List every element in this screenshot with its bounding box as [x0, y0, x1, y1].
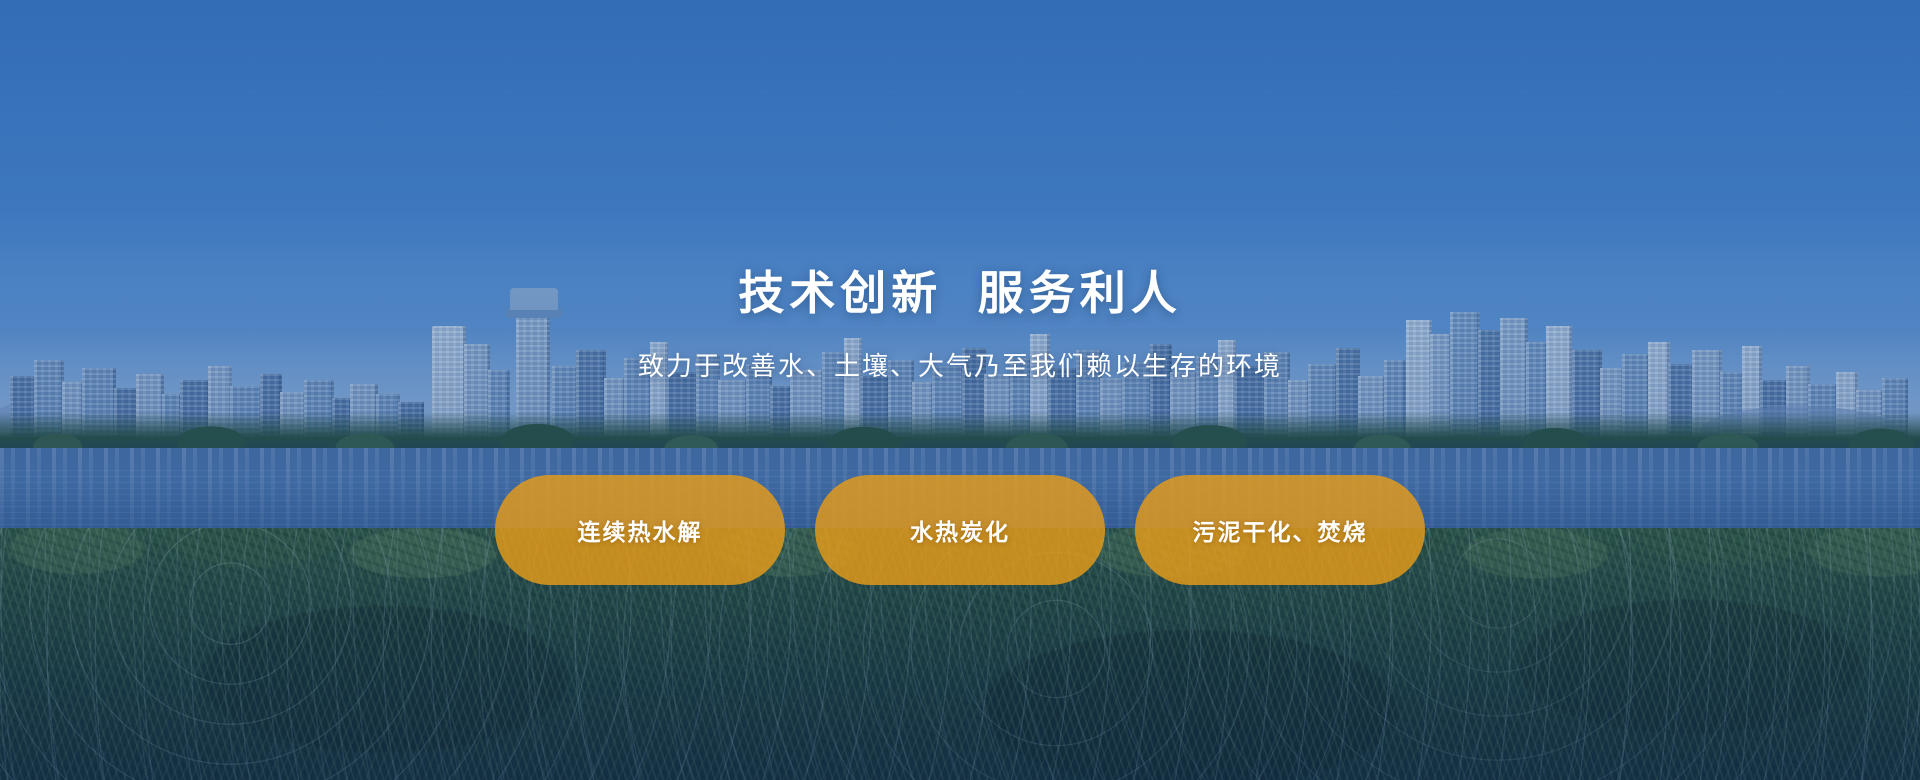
service-button-hydrothermal-carbonization[interactable]: 水热炭化 — [815, 475, 1105, 585]
hero-subheadline: 致力于改善水、土壤、大气乃至我们赖以生存的环境 — [0, 350, 1920, 384]
hero-content: 技术创新 服务利人 致力于改善水、土壤、大气乃至我们赖以生存的环境 连续热水解 … — [0, 0, 1920, 780]
service-button-continuous-thermal-hydrolysis[interactable]: 连续热水解 — [495, 475, 785, 585]
hero-banner: 技术创新 服务利人 致力于改善水、土壤、大气乃至我们赖以生存的环境 连续热水解 … — [0, 0, 1920, 780]
hero-button-row: 连续热水解 水热炭化 污泥干化、焚烧 — [0, 475, 1920, 585]
service-button-sludge-drying-incineration[interactable]: 污泥干化、焚烧 — [1135, 475, 1425, 585]
hero-headline: 技术创新 服务利人 — [0, 268, 1920, 319]
